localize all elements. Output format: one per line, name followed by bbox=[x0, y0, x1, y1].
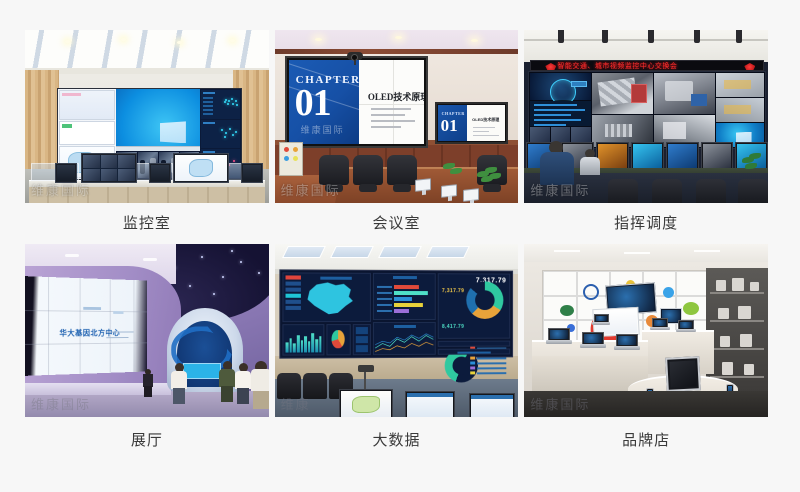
console-monitor bbox=[173, 153, 229, 183]
tablet-device[interactable] bbox=[665, 356, 701, 392]
presenter-person bbox=[143, 369, 153, 397]
laptop-device[interactable] bbox=[650, 318, 670, 332]
widget-pie-chart bbox=[326, 324, 350, 355]
laptop-device[interactable] bbox=[580, 332, 606, 350]
kpi-value: 8,417.79 bbox=[442, 324, 464, 330]
console-monitor bbox=[241, 163, 263, 183]
conference-chair bbox=[319, 155, 349, 185]
projector-icon bbox=[736, 30, 742, 43]
secondary-chapter-panel: CHAPTER 01 bbox=[438, 105, 467, 141]
led-banner: 智能交通、城市视频监控中心交换会 bbox=[530, 60, 764, 71]
ceiling bbox=[524, 30, 768, 62]
conference-camera-icon bbox=[347, 52, 363, 60]
operator-monitor bbox=[469, 393, 515, 417]
scene-gallery: 维康国际 监控室 CHAPTER 01 维康国际 bbox=[25, 30, 768, 452]
conference-tablet bbox=[463, 188, 479, 202]
widget-stat-list bbox=[353, 324, 371, 355]
plant-icon bbox=[740, 153, 764, 179]
thumbnail-big-data[interactable]: 7,317.79 7,317.79 8,417.79 bbox=[275, 244, 519, 417]
kpi-value: 7,317.79 bbox=[442, 288, 464, 294]
caption-brand-store: 品牌店 bbox=[622, 417, 670, 452]
ceiling-light-icon bbox=[315, 38, 322, 41]
laptop-device[interactable] bbox=[546, 328, 572, 346]
dashboard-row-charts bbox=[282, 324, 371, 355]
curved-led-screen: 华大基因北方中心 bbox=[25, 276, 147, 376]
widget-area-chart bbox=[438, 349, 510, 355]
line-chart-svg bbox=[374, 331, 435, 354]
laptop-device[interactable] bbox=[676, 320, 696, 334]
widget-donut-kpi: 7,317.79 7,317.79 8,417.79 bbox=[438, 273, 510, 339]
gallery-item-brand-store[interactable]: 维康国际 品牌店 bbox=[524, 244, 768, 452]
ceiling-light-icon bbox=[121, 38, 126, 41]
secondary-title: OLED技术原理 bbox=[472, 117, 499, 123]
ceiling bbox=[25, 30, 269, 74]
led-banner-text: 智能交通、城市视频监控中心交换会 bbox=[557, 61, 677, 71]
donut-chart bbox=[466, 281, 503, 319]
dashboard-section-right: 7,317.79 7,317.79 8,417.79 bbox=[438, 273, 510, 355]
ceiling-light-icon bbox=[230, 39, 235, 42]
thumbnail-command-dispatch[interactable]: 智能交通、城市视频监控中心交换会 bbox=[524, 30, 768, 203]
ceiling-light-icon bbox=[694, 250, 720, 252]
operator-person bbox=[580, 149, 600, 175]
ceiling-light-icon bbox=[65, 254, 79, 257]
ceiling-panel bbox=[426, 246, 470, 258]
slide-chapter-panel: CHAPTER 01 维康国际 bbox=[289, 60, 359, 144]
slide-chapter-number: 01 bbox=[295, 84, 331, 122]
windows-logo-icon bbox=[160, 121, 186, 143]
laptop-device[interactable] bbox=[614, 334, 640, 352]
ceiling-panel bbox=[378, 246, 422, 258]
caption-command-dispatch: 指挥调度 bbox=[614, 203, 678, 244]
ceiling-light-icon bbox=[65, 40, 70, 43]
visitor-person bbox=[219, 361, 235, 401]
graphic-dot bbox=[683, 302, 699, 315]
slide-watermark: 维康国际 bbox=[301, 123, 345, 136]
conference-tablet bbox=[415, 178, 431, 192]
ceiling-light-icon bbox=[143, 258, 157, 261]
caption-exhibition-hall: 展厅 bbox=[131, 417, 163, 452]
ceiling-light-icon bbox=[177, 41, 182, 44]
ceiling-light-icon bbox=[395, 36, 402, 39]
archway-screen bbox=[183, 363, 221, 378]
emblem-icon bbox=[545, 63, 556, 71]
ceiling bbox=[275, 30, 519, 56]
dashboard-section-center bbox=[373, 273, 436, 355]
dashboard-video-wall: 7,317.79 7,317.79 8,417.79 bbox=[279, 269, 513, 358]
slide-title: OLED技术原理 bbox=[368, 90, 424, 103]
thumbnail-conference-room[interactable]: CHAPTER 01 维康国际 OLED技术原理 CHAPTER bbox=[275, 30, 519, 203]
plant-icon bbox=[441, 161, 467, 183]
conference-chair bbox=[353, 155, 383, 185]
emblem-icon bbox=[744, 63, 755, 71]
ceiling-panel bbox=[282, 246, 326, 258]
gallery-item-conference-room[interactable]: CHAPTER 01 维康国际 OLED技术原理 CHAPTER bbox=[275, 30, 519, 244]
projector-icon bbox=[558, 30, 564, 43]
gallery-item-big-data[interactable]: 7,317.79 7,317.79 8,417.79 bbox=[275, 244, 519, 452]
console-monitor bbox=[149, 163, 171, 183]
widget-horizontal-bars bbox=[373, 273, 436, 320]
caption-monitoring-room: 监控室 bbox=[123, 203, 171, 244]
projector-icon bbox=[648, 30, 654, 43]
laptop-device[interactable] bbox=[592, 314, 610, 327]
visitor-person bbox=[171, 363, 187, 403]
dashboard-section-map bbox=[282, 272, 371, 355]
slide-content-panel: OLED技术原理 bbox=[359, 60, 424, 144]
thumbnail-exhibition-hall[interactable]: 华大基因北方中心 维康国际 bbox=[25, 244, 269, 417]
ceiling-light-icon bbox=[471, 39, 478, 42]
wall-control-panel bbox=[279, 142, 303, 176]
secondary-content-panel: OLED技术原理 bbox=[467, 105, 505, 141]
visitor-person bbox=[235, 363, 251, 403]
thumbnail-monitoring-room[interactable]: 维康国际 bbox=[25, 30, 269, 203]
video-wall bbox=[528, 71, 766, 149]
ceiling-light-icon bbox=[624, 252, 650, 254]
caption-big-data: 大数据 bbox=[372, 417, 420, 452]
video-wall-column-center bbox=[592, 73, 716, 147]
projector-icon bbox=[694, 30, 700, 43]
gallery-item-exhibition-hall[interactable]: 华大基因北方中心 维康国际 展厅 bbox=[25, 244, 269, 452]
operator-monitor bbox=[405, 391, 455, 417]
visitor-person bbox=[251, 361, 269, 407]
plant-icon bbox=[475, 167, 501, 189]
operator-monitor bbox=[339, 389, 393, 417]
widget-gauge-arc bbox=[438, 341, 510, 347]
widget-bar-chart bbox=[282, 325, 324, 356]
video-wall: CHAPTER 01 维康国际 OLED技术原理 bbox=[285, 56, 428, 148]
operator-person bbox=[540, 141, 574, 185]
caption-conference-room: 会议室 bbox=[372, 203, 420, 244]
china-map-shape bbox=[304, 280, 354, 316]
console-monitor bbox=[55, 163, 77, 183]
gallery-item-monitoring-room[interactable]: 维康国际 监控室 bbox=[25, 30, 269, 244]
video-wall-column-left bbox=[530, 73, 590, 147]
projector-icon bbox=[602, 30, 608, 43]
conference-tablet bbox=[441, 184, 457, 198]
thumbnail-brand-store[interactable]: 维康国际 bbox=[524, 244, 768, 417]
widget-line-chart bbox=[373, 322, 436, 355]
conference-chair bbox=[387, 155, 417, 185]
gallery-item-command-dispatch[interactable]: 智能交通、城市视频监控中心交换会 bbox=[524, 30, 768, 244]
secondary-chapter-number: 01 bbox=[441, 117, 458, 134]
floor bbox=[524, 391, 768, 417]
widget-china-map bbox=[282, 272, 371, 322]
video-wall-column-right bbox=[716, 73, 764, 147]
secondary-display: CHAPTER 01 OLED技术原理 bbox=[435, 102, 508, 144]
ceiling-light-icon bbox=[554, 250, 580, 252]
graphic-blob bbox=[560, 305, 574, 316]
wall-shelf-unit bbox=[706, 268, 768, 392]
console-monitor bbox=[81, 153, 137, 183]
ceiling-panel bbox=[330, 246, 374, 258]
